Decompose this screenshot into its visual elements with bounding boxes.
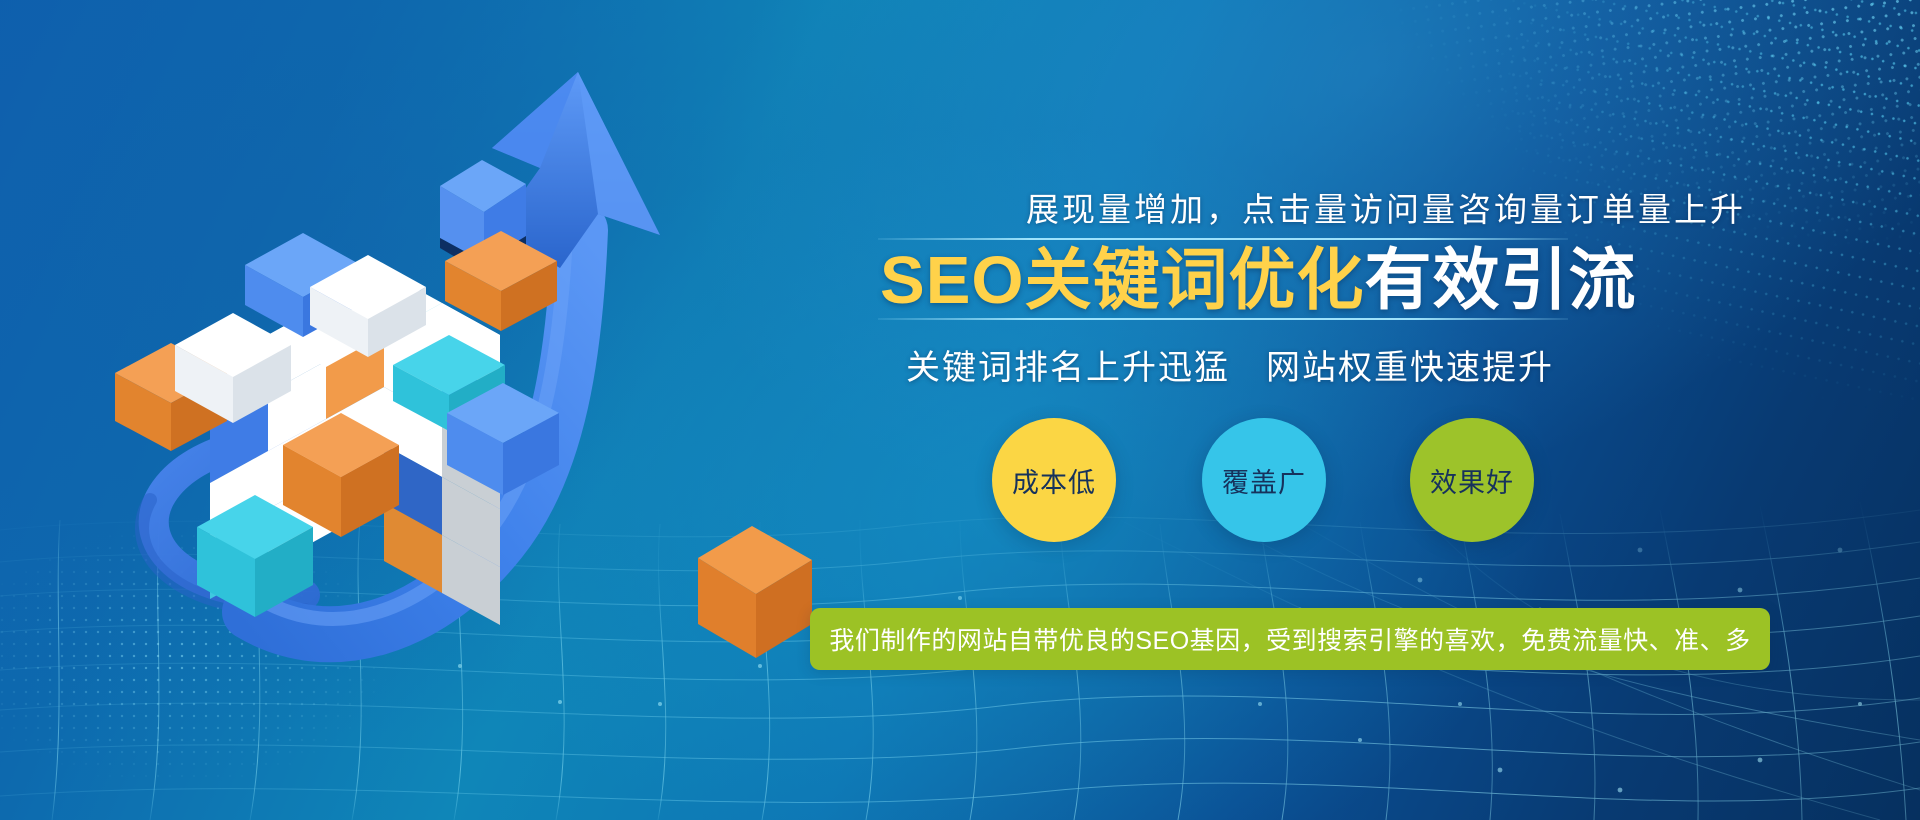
benefit-bubble-cost-label: 成本低	[1012, 461, 1096, 500]
subtitle: 关键词排名上升迅猛 网站权重快速提升	[880, 340, 1580, 389]
benefit-bubble-coverage-label: 覆盖广	[1222, 461, 1306, 500]
footer-highlight-text: 我们制作的网站自带优良的SEO基因，受到搜索引擎的喜欢，免费流量快、准、多	[829, 621, 1750, 657]
benefit-bubbles: 成本低 覆盖广 效果好	[850, 418, 1650, 558]
benefit-bubble-coverage[interactable]: 覆盖广	[1202, 418, 1326, 542]
benefit-bubble-effect[interactable]: 效果好	[1410, 418, 1534, 542]
tagline: 展现量增加，点击量访问量咨询量订单量上升	[886, 183, 1886, 231]
banner-content: 展现量增加，点击量访问量咨询量订单量上升 SEO关键词优化有效引流 关键词排名上…	[850, 0, 1920, 820]
footer-highlight-bar: 我们制作的网站自带优良的SEO基因，受到搜索引擎的喜欢，免费流量快、准、多	[810, 608, 1770, 670]
seo-promo-banner: 展现量增加，点击量访问量咨询量订单量上升 SEO关键词优化有效引流 关键词排名上…	[0, 0, 1920, 820]
divider-top	[878, 238, 1568, 240]
divider-bottom	[878, 318, 1568, 320]
page-title: SEO关键词优化有效引流	[880, 245, 1570, 317]
headline-primary: SEO关键词优化	[880, 243, 1365, 318]
hero-illustration	[0, 0, 900, 820]
floating-orange-cube-icon	[698, 526, 812, 658]
benefit-bubble-cost[interactable]: 成本低	[992, 418, 1116, 542]
headline-secondary: 有效引流	[1365, 243, 1637, 318]
benefit-bubble-effect-label: 效果好	[1430, 461, 1514, 500]
arrow-and-cubes-graphic	[0, 0, 900, 820]
